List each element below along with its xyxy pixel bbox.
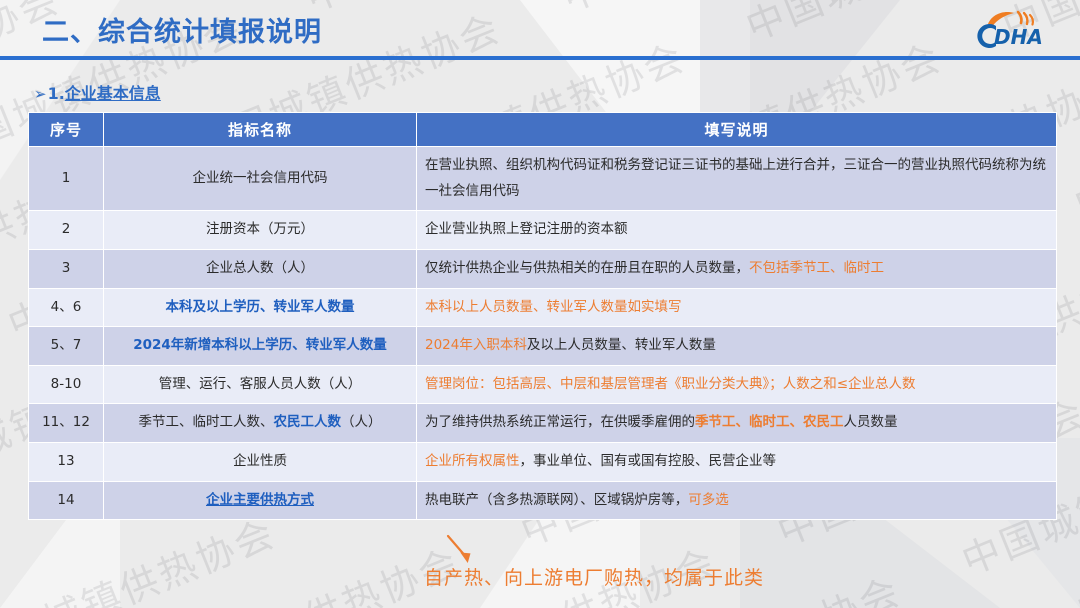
annotation-text: 自产热、向上游电厂购热，均属于此类 (424, 563, 764, 590)
table-row: 3企业总人数（人）仅统计供热企业与供热相关的在册且在职的人员数量，不包括季节工、… (29, 249, 1057, 288)
cell-indicator-name: 企业总人数（人） (104, 249, 417, 288)
title-divider (0, 56, 1080, 60)
table-row: 13企业性质企业所有权属性，事业单位、国有或国有控股、民营企业等 (29, 443, 1057, 482)
table-row: 8-10管理、运行、客服人员人数（人）管理岗位：包括高层、中层和基层管理者《职业… (29, 365, 1057, 404)
cell-description: 本科以上人员数量、转业军人数量如实填写 (417, 288, 1057, 327)
cell-indicator-name: 季节工、临时工人数、农民工人数（人） (104, 404, 417, 443)
enterprise-basic-info-table: 序号 指标名称 填写说明 1企业统一社会信用代码在营业执照、组织机构代码证和税务… (28, 112, 1057, 520)
table-header-row: 序号 指标名称 填写说明 (29, 113, 1057, 147)
col-header-index: 序号 (29, 113, 104, 147)
cell-description: 仅统计供热企业与供热相关的在册且在职的人员数量，不包括季节工、临时工 (417, 249, 1057, 288)
cell-description: 管理岗位：包括高层、中层和基层管理者《职业分类大典》；人数之和≤企业总人数 (417, 365, 1057, 404)
col-header-name: 指标名称 (104, 113, 417, 147)
cell-description: 企业所有权属性，事业单位、国有或国有控股、民营企业等 (417, 443, 1057, 482)
cell-index: 8-10 (29, 365, 104, 404)
cell-index: 13 (29, 443, 104, 482)
cell-index: 1 (29, 147, 104, 211)
table-row: 11、12季节工、临时工人数、农民工人数（人）为了维持供热系统正常运行，在供暖季… (29, 404, 1057, 443)
section-label: 企业基本信息 (65, 80, 161, 104)
table-row: 4、6本科及以上学历、转业军人数量本科以上人员数量、转业军人数量如实填写 (29, 288, 1057, 327)
page-title: 二、综合统计填报说明 (42, 10, 322, 49)
cell-description: 热电联产（含多热源联网）、区域锅炉房等，可多选 (417, 481, 1057, 520)
cell-description: 为了维持供热系统正常运行，在供暖季雇佣的季节工、临时工、农民工人员数量 (417, 404, 1057, 443)
cell-index: 14 (29, 481, 104, 520)
cell-indicator-name: 2024年新增本科以上学历、转业军人数量 (104, 327, 417, 366)
cell-index: 4、6 (29, 288, 104, 327)
cell-description: 2024年入职本科及以上人员数量、转业军人数量 (417, 327, 1057, 366)
svg-text:DHA: DHA (994, 25, 1043, 49)
cell-index: 11、12 (29, 404, 104, 443)
cell-indicator-name: 管理、运行、客服人员人数（人） (104, 365, 417, 404)
cell-index: 5、7 (29, 327, 104, 366)
cdha-logo: DHA (966, 8, 1064, 52)
cell-description: 企业营业执照上登记注册的资本额 (417, 211, 1057, 250)
table-row: 14企业主要供热方式热电联产（含多热源联网）、区域锅炉房等，可多选 (29, 481, 1057, 520)
col-header-desc: 填写说明 (417, 113, 1057, 147)
table-row: 5、72024年新增本科以上学历、转业军人数量2024年入职本科及以上人员数量、… (29, 327, 1057, 366)
chevron-right-icon: ➢ (34, 85, 47, 103)
table-row: 1企业统一社会信用代码在营业执照、组织机构代码证和税务登记证三证书的基础上进行合… (29, 147, 1057, 211)
section-heading: ➢ 1. 企业基本信息 (34, 80, 161, 104)
table-row: 2注册资本（万元）企业营业执照上登记注册的资本额 (29, 211, 1057, 250)
section-number: 1. (48, 84, 65, 103)
cdha-wordmark: DHA (977, 24, 1042, 49)
table-body: 1企业统一社会信用代码在营业执照、组织机构代码证和税务登记证三证书的基础上进行合… (29, 147, 1057, 520)
cell-indicator-name: 企业性质 (104, 443, 417, 482)
cell-index: 2 (29, 211, 104, 250)
cell-description: 在营业执照、组织机构代码证和税务登记证三证书的基础上进行合并，三证合一的营业执照… (417, 147, 1057, 211)
cell-indicator-name: 企业统一社会信用代码 (104, 147, 417, 211)
cell-index: 3 (29, 249, 104, 288)
slide-header: 二、综合统计填报说明 DHA (0, 0, 1080, 66)
cell-indicator-name: 注册资本（万元） (104, 211, 417, 250)
cell-indicator-name: 企业主要供热方式 (104, 481, 417, 520)
cell-indicator-name: 本科及以上学历、转业军人数量 (104, 288, 417, 327)
